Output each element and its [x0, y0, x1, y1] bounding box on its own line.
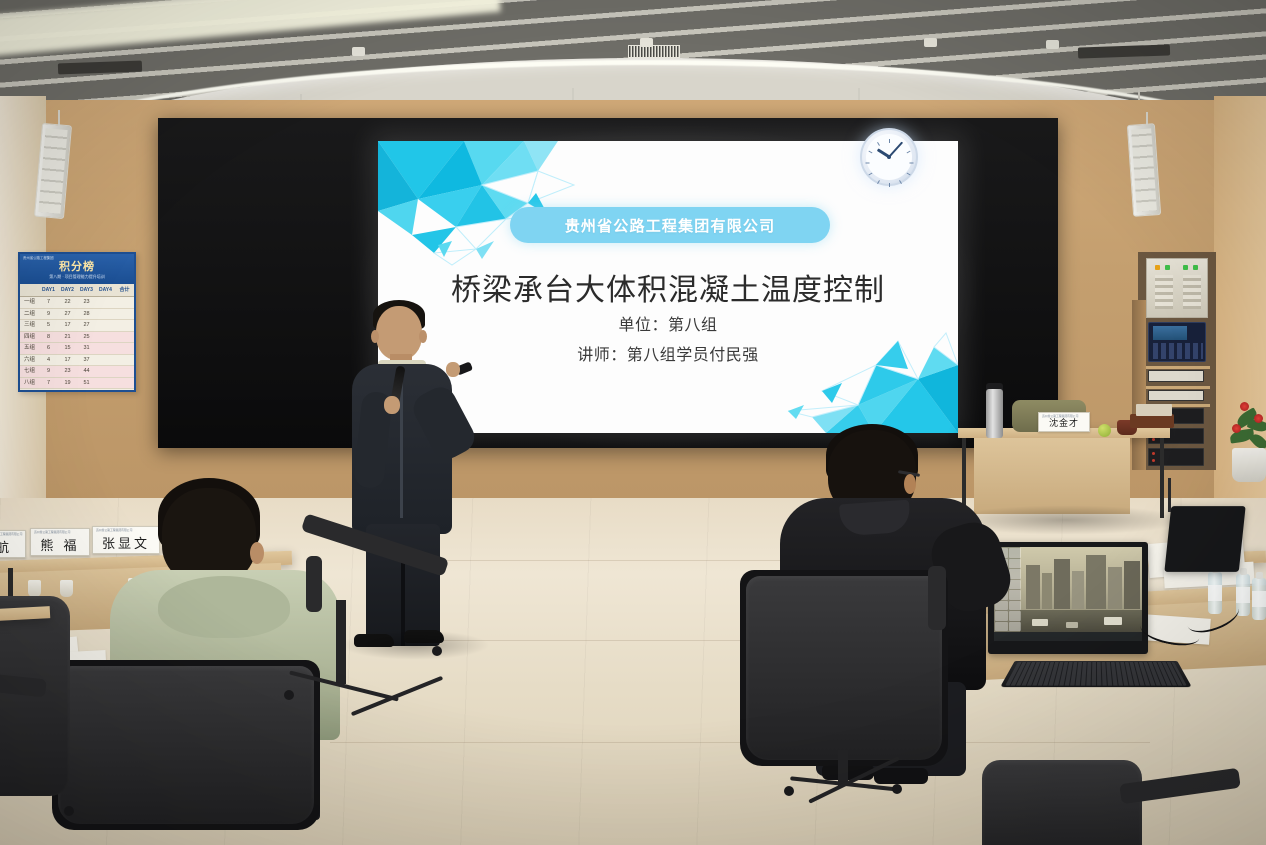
plant-pot [1232, 448, 1266, 482]
poster-row: 四组82125 [20, 332, 134, 344]
rack-shelf-1 [1144, 366, 1210, 369]
rack-led-3 [1152, 452, 1155, 455]
attendee-left-ear [250, 542, 264, 564]
desk-books [1136, 404, 1172, 416]
poster-row: 一组72223 [20, 297, 134, 309]
placard-org: 贵州省公路工程集团有限公司 [0, 532, 22, 536]
placard-name: 熊 福 [40, 540, 79, 555]
right-wall-column [1214, 96, 1266, 566]
plant-flower-2 [1254, 414, 1263, 423]
poster-row: 二组92728 [20, 309, 134, 321]
bottle-label [1208, 585, 1222, 601]
poster-subtitle: 第八期 · 项目管理能力提升培训 [49, 274, 105, 280]
av-amplifier-panel [1146, 258, 1208, 318]
attendee-right-shoe-2 [874, 768, 928, 784]
indicator-lamp-green-2 [1183, 265, 1188, 270]
poster-col-day4: DAY4 [96, 284, 115, 296]
poster-row: 五组61531 [20, 343, 134, 355]
laptop-screen[interactable] [994, 547, 1142, 641]
chair-left-armrest-support[interactable] [306, 556, 322, 612]
clock-center-pin [887, 155, 891, 159]
chair-left-back[interactable] [58, 666, 314, 824]
chair-right-caster-2 [892, 784, 902, 794]
poster-row: 八组71951 [20, 378, 134, 390]
water-cup-2 [60, 580, 73, 597]
rack-side-panel [1132, 300, 1146, 470]
air-vent [628, 45, 680, 58]
rack-led-4 [1152, 459, 1155, 462]
polygon-decor-top-left [378, 141, 593, 266]
presenter-ear-right [419, 330, 427, 343]
poster-column-headers: DAY1 DAY2 DAY3 DAY4 合计 [20, 284, 134, 297]
poster-col-day3: DAY3 [77, 284, 96, 296]
poster-row: 六组41737 [20, 355, 134, 367]
control-panel-screen [1153, 326, 1187, 340]
placard-org: 贵州省公路工程集团有限公司 [96, 528, 132, 532]
poster-col-day2: DAY2 [58, 284, 77, 296]
name-placard-2: 贵州省公路工程集团有限公司 熊 福 [30, 528, 90, 556]
clock-face [866, 134, 912, 180]
chair-left-caster-2 [432, 646, 442, 656]
bottle-label [1236, 587, 1250, 603]
attendee-left-hood [158, 576, 290, 638]
placard-org: 贵州省公路工程集团有限公司 [34, 530, 70, 534]
laptop-rear-lid[interactable] [1164, 506, 1245, 572]
microphone-stand [1168, 478, 1171, 512]
indicator-lamp-green-1 [1165, 265, 1170, 270]
ceiling-mount-1 [352, 47, 365, 56]
poster-col-total: 合计 [115, 284, 134, 296]
placard-name: 航 [0, 542, 12, 557]
indicator-lamp-amber [1155, 265, 1160, 270]
poster-row: 七组92344 [20, 366, 134, 378]
water-bottle-3 [1252, 578, 1266, 620]
attendee-right-ear [904, 474, 916, 494]
rack-device-5 [1148, 448, 1204, 466]
ceiling-mount-4 [1046, 40, 1059, 49]
plant-flower-3 [1232, 424, 1241, 433]
poster-org-tag: 贵州省公路工程集团 [20, 254, 54, 262]
poster-row: 三组51727 [20, 320, 134, 332]
plant-flower-1 [1240, 402, 1249, 411]
poster-title: 积分榜 [59, 258, 95, 274]
rack-device-2 [1148, 390, 1204, 401]
desk-tray [1130, 414, 1174, 428]
poster-col-day1: DAY1 [39, 284, 58, 296]
chair-right-back[interactable] [746, 576, 942, 760]
scoreboard-poster: 贵州省公路工程集团 积分榜 第八期 · 项目管理能力提升培训 DAY1 DAY2… [18, 252, 136, 392]
chair-left-caster-1 [284, 690, 294, 700]
rack-led-2 [1152, 438, 1155, 441]
laptop-taskbar[interactable] [994, 632, 1142, 641]
slide-company-banner: 贵州省公路工程集团有限公司 [510, 207, 830, 243]
rack-device-1 [1148, 370, 1204, 382]
chair-left-post [336, 600, 346, 684]
slide-company-name: 贵州省公路工程集团有限公司 [565, 215, 776, 236]
presenter-hand-mic [384, 396, 400, 414]
presenter-ear-left [371, 330, 379, 343]
chair-left-caster-3 [64, 806, 74, 816]
photo-scene: 贵州省公路工程集团有限公司 桥梁承台大体积混凝土温度控制 单位：第八组 讲师：第… [0, 0, 1266, 845]
presenter-head [376, 306, 422, 360]
water-cup-1 [28, 580, 41, 597]
apple [1098, 424, 1111, 437]
laptop-front-keyboard[interactable] [1000, 661, 1192, 687]
wall-clock [860, 128, 918, 186]
name-placard-head: 贵州省公路工程集团有限公司 沈金才 [1038, 412, 1090, 432]
ceiling-mount-3 [924, 38, 937, 47]
poster-col-group [20, 284, 39, 296]
poster-header: 贵州省公路工程集团 积分榜 第八期 · 项目管理能力提升培训 [20, 254, 134, 284]
presenter-hand-clicker [446, 362, 460, 377]
laptop-wallpaper-cityscape [1020, 547, 1142, 632]
name-placard-1: 贵州省公路工程集团有限公司 航 [0, 530, 26, 558]
keyboard-keys[interactable] [1005, 662, 1187, 686]
indicator-lamp-green-3 [1193, 265, 1198, 270]
ceiling-mount-2 [640, 38, 653, 47]
rack-shelf-2 [1144, 386, 1210, 389]
bottle-label [1252, 591, 1266, 607]
placard-name: 沈金才 [1049, 420, 1079, 431]
av-control-touchpanel[interactable] [1148, 322, 1206, 362]
chair-right-caster-1 [784, 786, 794, 796]
control-panel-buttons[interactable] [1153, 343, 1203, 359]
chair-right-armrest[interactable] [928, 566, 946, 630]
chair-foreground-right[interactable] [982, 760, 1142, 845]
presenter-jacket-zipper [400, 378, 403, 518]
placard-org: 贵州省公路工程集团有限公司 [1042, 414, 1078, 418]
